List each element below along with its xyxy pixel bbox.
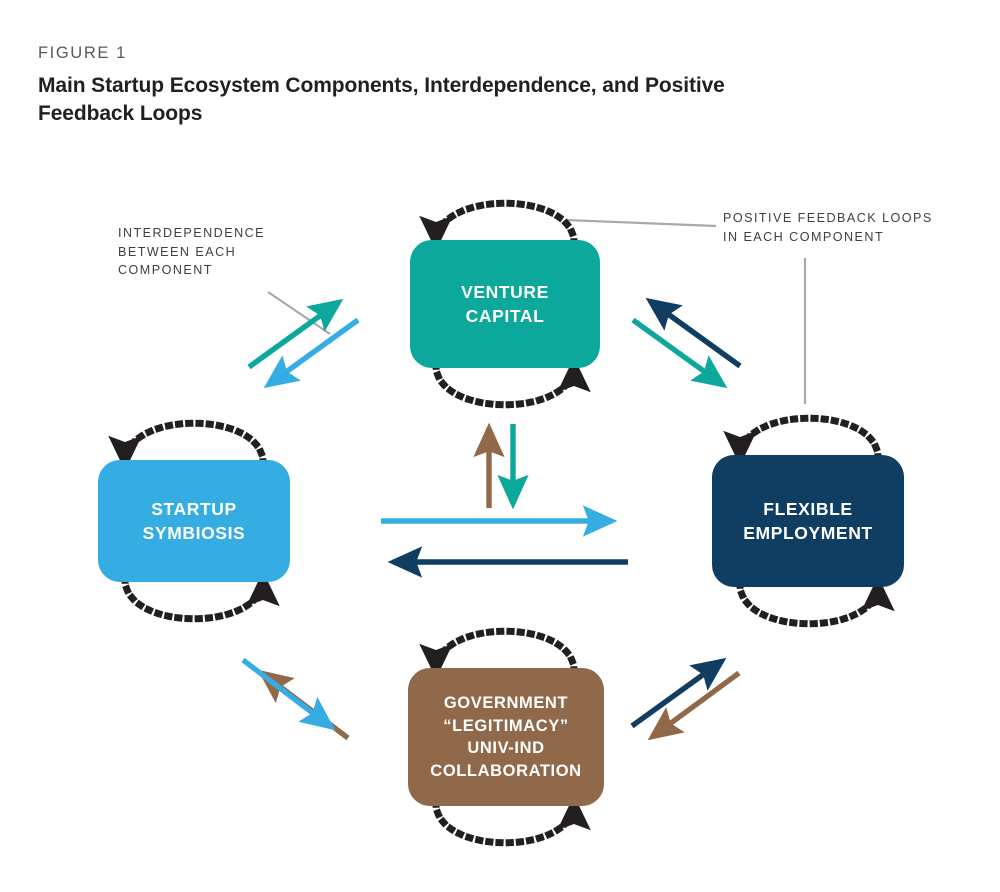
arrow-venture-to-startup (268, 320, 358, 385)
node-government-label: GOVERNMENT “LEGITIMACY” UNIV-IND COLLABO… (430, 692, 581, 782)
arrow-startup-to-government (243, 660, 331, 727)
node-venture-capital-label: VENTURE CAPITAL (461, 280, 549, 328)
node-venture-capital[interactable]: VENTURE CAPITAL (410, 240, 600, 368)
arrow-startup-to-venture (249, 302, 339, 367)
arrow-flexible-to-venture (650, 301, 740, 366)
arrow-venture-to-flexible (633, 320, 723, 385)
node-startup-symbiosis-label: STARTUP SYMBIOSIS (143, 497, 246, 545)
node-flexible-employment[interactable]: FLEXIBLE EMPLOYMENT (712, 455, 904, 587)
node-startup-symbiosis[interactable]: STARTUP SYMBIOSIS (98, 460, 290, 582)
figure-page: FIGURE 1 Main Startup Ecosystem Componen… (0, 0, 1000, 892)
leader-line-feedback-top (566, 220, 716, 226)
node-flexible-employment-label: FLEXIBLE EMPLOYMENT (743, 497, 872, 545)
node-government[interactable]: GOVERNMENT “LEGITIMACY” UNIV-IND COLLABO… (408, 668, 604, 806)
